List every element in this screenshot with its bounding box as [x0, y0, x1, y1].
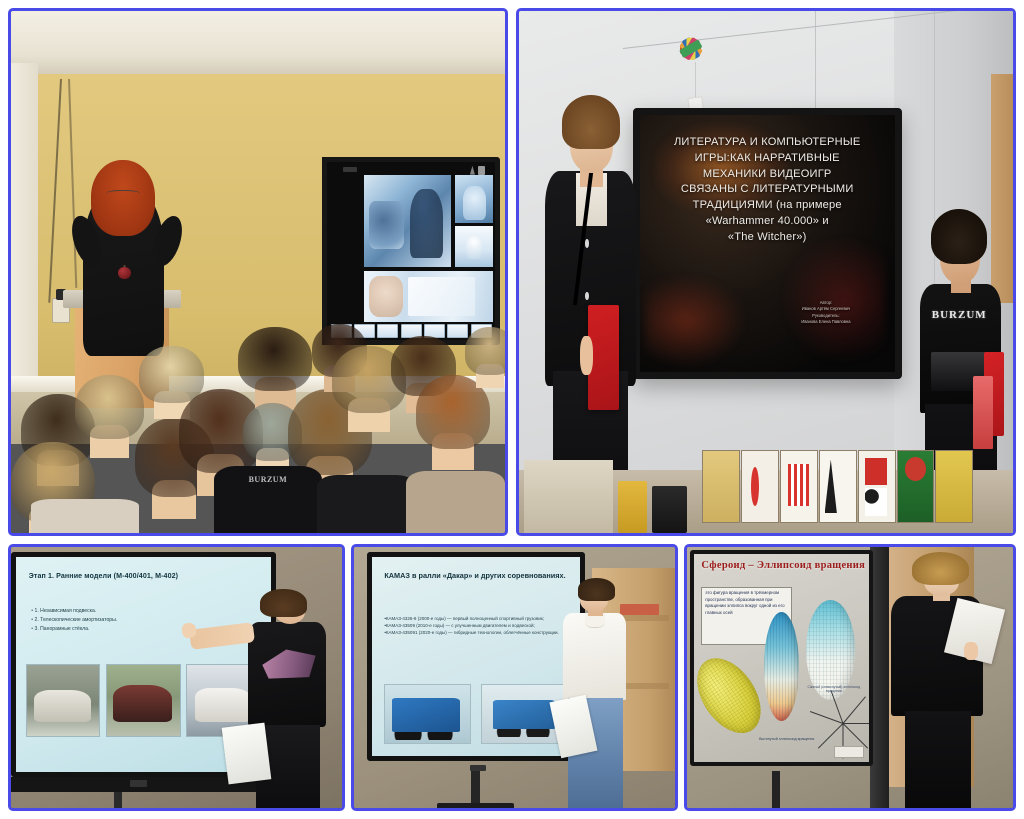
art-board	[858, 450, 896, 522]
floor-object-yellow	[618, 481, 648, 533]
audience-head	[75, 375, 144, 440]
lecture-hall-scene: BURZUM	[11, 11, 505, 533]
ceiling	[11, 11, 505, 79]
art-board	[819, 450, 857, 522]
display-stand-e	[772, 771, 780, 808]
ellipsoid-figure-yellow	[694, 646, 774, 744]
spheroid-scene: Сфероид – Эллипсоид вращения это фигура …	[687, 547, 1013, 808]
slide-truck-images	[384, 684, 567, 744]
car-photo	[106, 664, 180, 737]
interactive-display-e[interactable]: Сфероид – Эллипсоид вращения это фигура …	[690, 550, 873, 767]
slide-title-line: «Warhammer 40.000» и	[655, 214, 880, 230]
cursor-arrow-icon	[470, 166, 475, 175]
collage-photo-3	[455, 226, 494, 267]
audience-head	[465, 327, 505, 375]
slide-footer-box	[834, 746, 864, 758]
slide-title-line: ТРАДИЦИЯМИ (на примере	[655, 198, 880, 214]
axis-line	[842, 723, 867, 748]
slide-title-line: СВЯЗАНЫ С ЛИТЕРАТУРНЫМИ	[655, 182, 880, 198]
slide-title-line: ЛИТЕРАТУРА И КОМПЬЮТЕРНЫЕ	[655, 135, 880, 151]
moskvich-scene: Этап 1. Ранние модели (М-400/401, М-402)…	[11, 547, 342, 808]
interactive-display-main[interactable]: ЛИТЕРАТУРА И КОМПЬЮТЕРНЫЕИГРЫ:КАК НАРРАТ…	[633, 108, 902, 379]
student-left-hand	[580, 336, 592, 375]
display-screen-d: КАМАЗ в ралли «Дакар» и других соревнова…	[372, 557, 580, 756]
axes-diagram	[823, 700, 861, 746]
slide-bullets-kamaz: •КАМАЗ-4326-9 (2000-е годы) — первый пол…	[384, 615, 571, 637]
slide-title-line: МЕХАНИКИ ВИДЕОИГР	[655, 167, 880, 183]
slide-background-glow-lower-left	[645, 274, 747, 367]
panel-spheroid-presentation[interactable]: Сфероид – Эллипсоид вращения это фигура …	[684, 544, 1016, 811]
slide-bullet: •КАМАЗ-43509 (2010-е годы) — с улучшенны…	[384, 622, 571, 629]
speaker-hair	[91, 160, 155, 236]
audience-group: BURZUM	[11, 293, 505, 533]
display-stand-base-d	[437, 803, 514, 808]
student-left-button	[585, 239, 589, 247]
paper-star-ornament	[680, 34, 702, 61]
art-board	[897, 450, 935, 522]
axis-line	[818, 723, 843, 748]
audience-torso	[31, 499, 140, 533]
student-polo-hair	[578, 578, 615, 601]
collage-photo-2	[455, 175, 494, 223]
slide-subtitle: Автор:Иванов Артём СергеевичРуководитель…	[772, 300, 879, 325]
slide-bullet: 2. Телескопические амортизаторы.	[31, 616, 235, 625]
ellipsoid-figure-prolate	[764, 612, 799, 720]
art-board	[702, 450, 740, 522]
student-white-polo	[553, 578, 636, 808]
audience-head	[238, 327, 312, 392]
slide-bullet: •КАМАЗ-435091 (2020-е годы) — гибридные …	[384, 629, 571, 636]
collage-photo-1	[364, 175, 451, 268]
audience-head	[139, 346, 203, 404]
student-pointing-hair	[260, 589, 307, 618]
slide-title-moskvich: Этап 1. Ранние модели (М-400/401, М-402)	[29, 572, 263, 580]
art-board	[741, 450, 779, 522]
axis-line	[843, 723, 869, 724]
student-pointing	[229, 589, 332, 808]
window-control-icon[interactable]	[478, 166, 485, 175]
tshirt-band-logo: BURZUM	[929, 310, 989, 339]
slide-title: ЛИТЕРАТУРА И КОМПЬЮТЕРНЫЕИГРЫ:КАК НАРРАТ…	[655, 135, 880, 245]
presentation-room-scene: ЛИТЕРАТУРА И КОМПЬЮТЕРНЫЕИГРЫ:КАК НАРРАТ…	[519, 11, 1013, 533]
audience-torso	[317, 475, 416, 533]
display-screen: ЛИТЕРАТУРА И КОМПЬЮТЕРНЫЕИГРЫ:КАК НАРРАТ…	[640, 115, 895, 372]
student-reading-trousers	[905, 711, 971, 808]
slide-title-spheroid: Сфероид – Эллипсоид вращения	[701, 560, 865, 571]
student-right-hair	[931, 209, 987, 264]
floor-object-black	[652, 486, 687, 533]
slide-title-kamaz: КАМАЗ в ралли «Дакар» и других соревнова…	[384, 571, 567, 581]
art-board	[935, 450, 973, 522]
speaker-pendant	[118, 267, 131, 280]
slide-bullet: •КАМАЗ-4326-9 (2000-е годы) — первый пол…	[384, 615, 571, 622]
figure-caption-right: Сжатый (сплюснутый) эллипсоид вращения	[806, 685, 862, 693]
display-brand-plate-c	[130, 780, 147, 787]
panel-kamaz-presentation[interactable]: КАМАЗ в ралли «Дакар» и других соревнова…	[351, 544, 678, 811]
truck-photo	[384, 684, 471, 744]
art-board	[780, 450, 818, 522]
student-reading	[879, 552, 996, 808]
student-left-hair	[562, 95, 620, 150]
photo-collage: BURZUM ЛИТЕРАТУРА И КОМПЬЮТЕРНЫЕИГРЫ:КАК…	[0, 0, 1024, 819]
slide-bullet: 1. Независимая подвеска.	[31, 607, 235, 616]
art-boards-row	[702, 444, 974, 522]
display-screen-e: Сфероид – Эллипсоид вращения это фигура …	[694, 554, 869, 763]
panel-main-presentation[interactable]: ЛИТЕРАТУРА И КОМПЬЮТЕРНЫЕИГРЫ:КАК НАРРАТ…	[516, 8, 1016, 536]
red-object	[973, 376, 993, 449]
slide-subtitle-line: Иванова Елена Павловна	[772, 319, 879, 325]
display-brand-logo	[343, 167, 356, 172]
audience-tshirt-text: BURZUM	[218, 475, 317, 484]
audience-torso	[406, 471, 505, 533]
kamaz-scene: КАМАЗ в ралли «Дакар» и других соревнова…	[354, 547, 675, 808]
figure-caption-center: Вытянутый эллипсоид вращения	[747, 737, 827, 741]
slide-title-line: «The Witcher»)	[655, 230, 880, 246]
car-photo	[26, 664, 100, 737]
student-pointing-paper	[222, 722, 272, 784]
axis-line	[842, 696, 865, 723]
speaker-glasses	[106, 190, 141, 199]
slide-title-line: ИГРЫ:КАК НАРРАТИВНЫЕ	[655, 151, 880, 167]
student-reading-hair	[912, 552, 968, 585]
display-stand-c	[114, 792, 122, 808]
student-reading-hand	[964, 642, 978, 660]
desk-surface	[524, 460, 613, 533]
panel-moskvich-presentation[interactable]: Этап 1. Ранние модели (М-400/401, М-402)…	[8, 544, 345, 811]
panel-lecture-hall-overview[interactable]: BURZUM	[8, 8, 508, 536]
ornament-string	[695, 62, 696, 99]
